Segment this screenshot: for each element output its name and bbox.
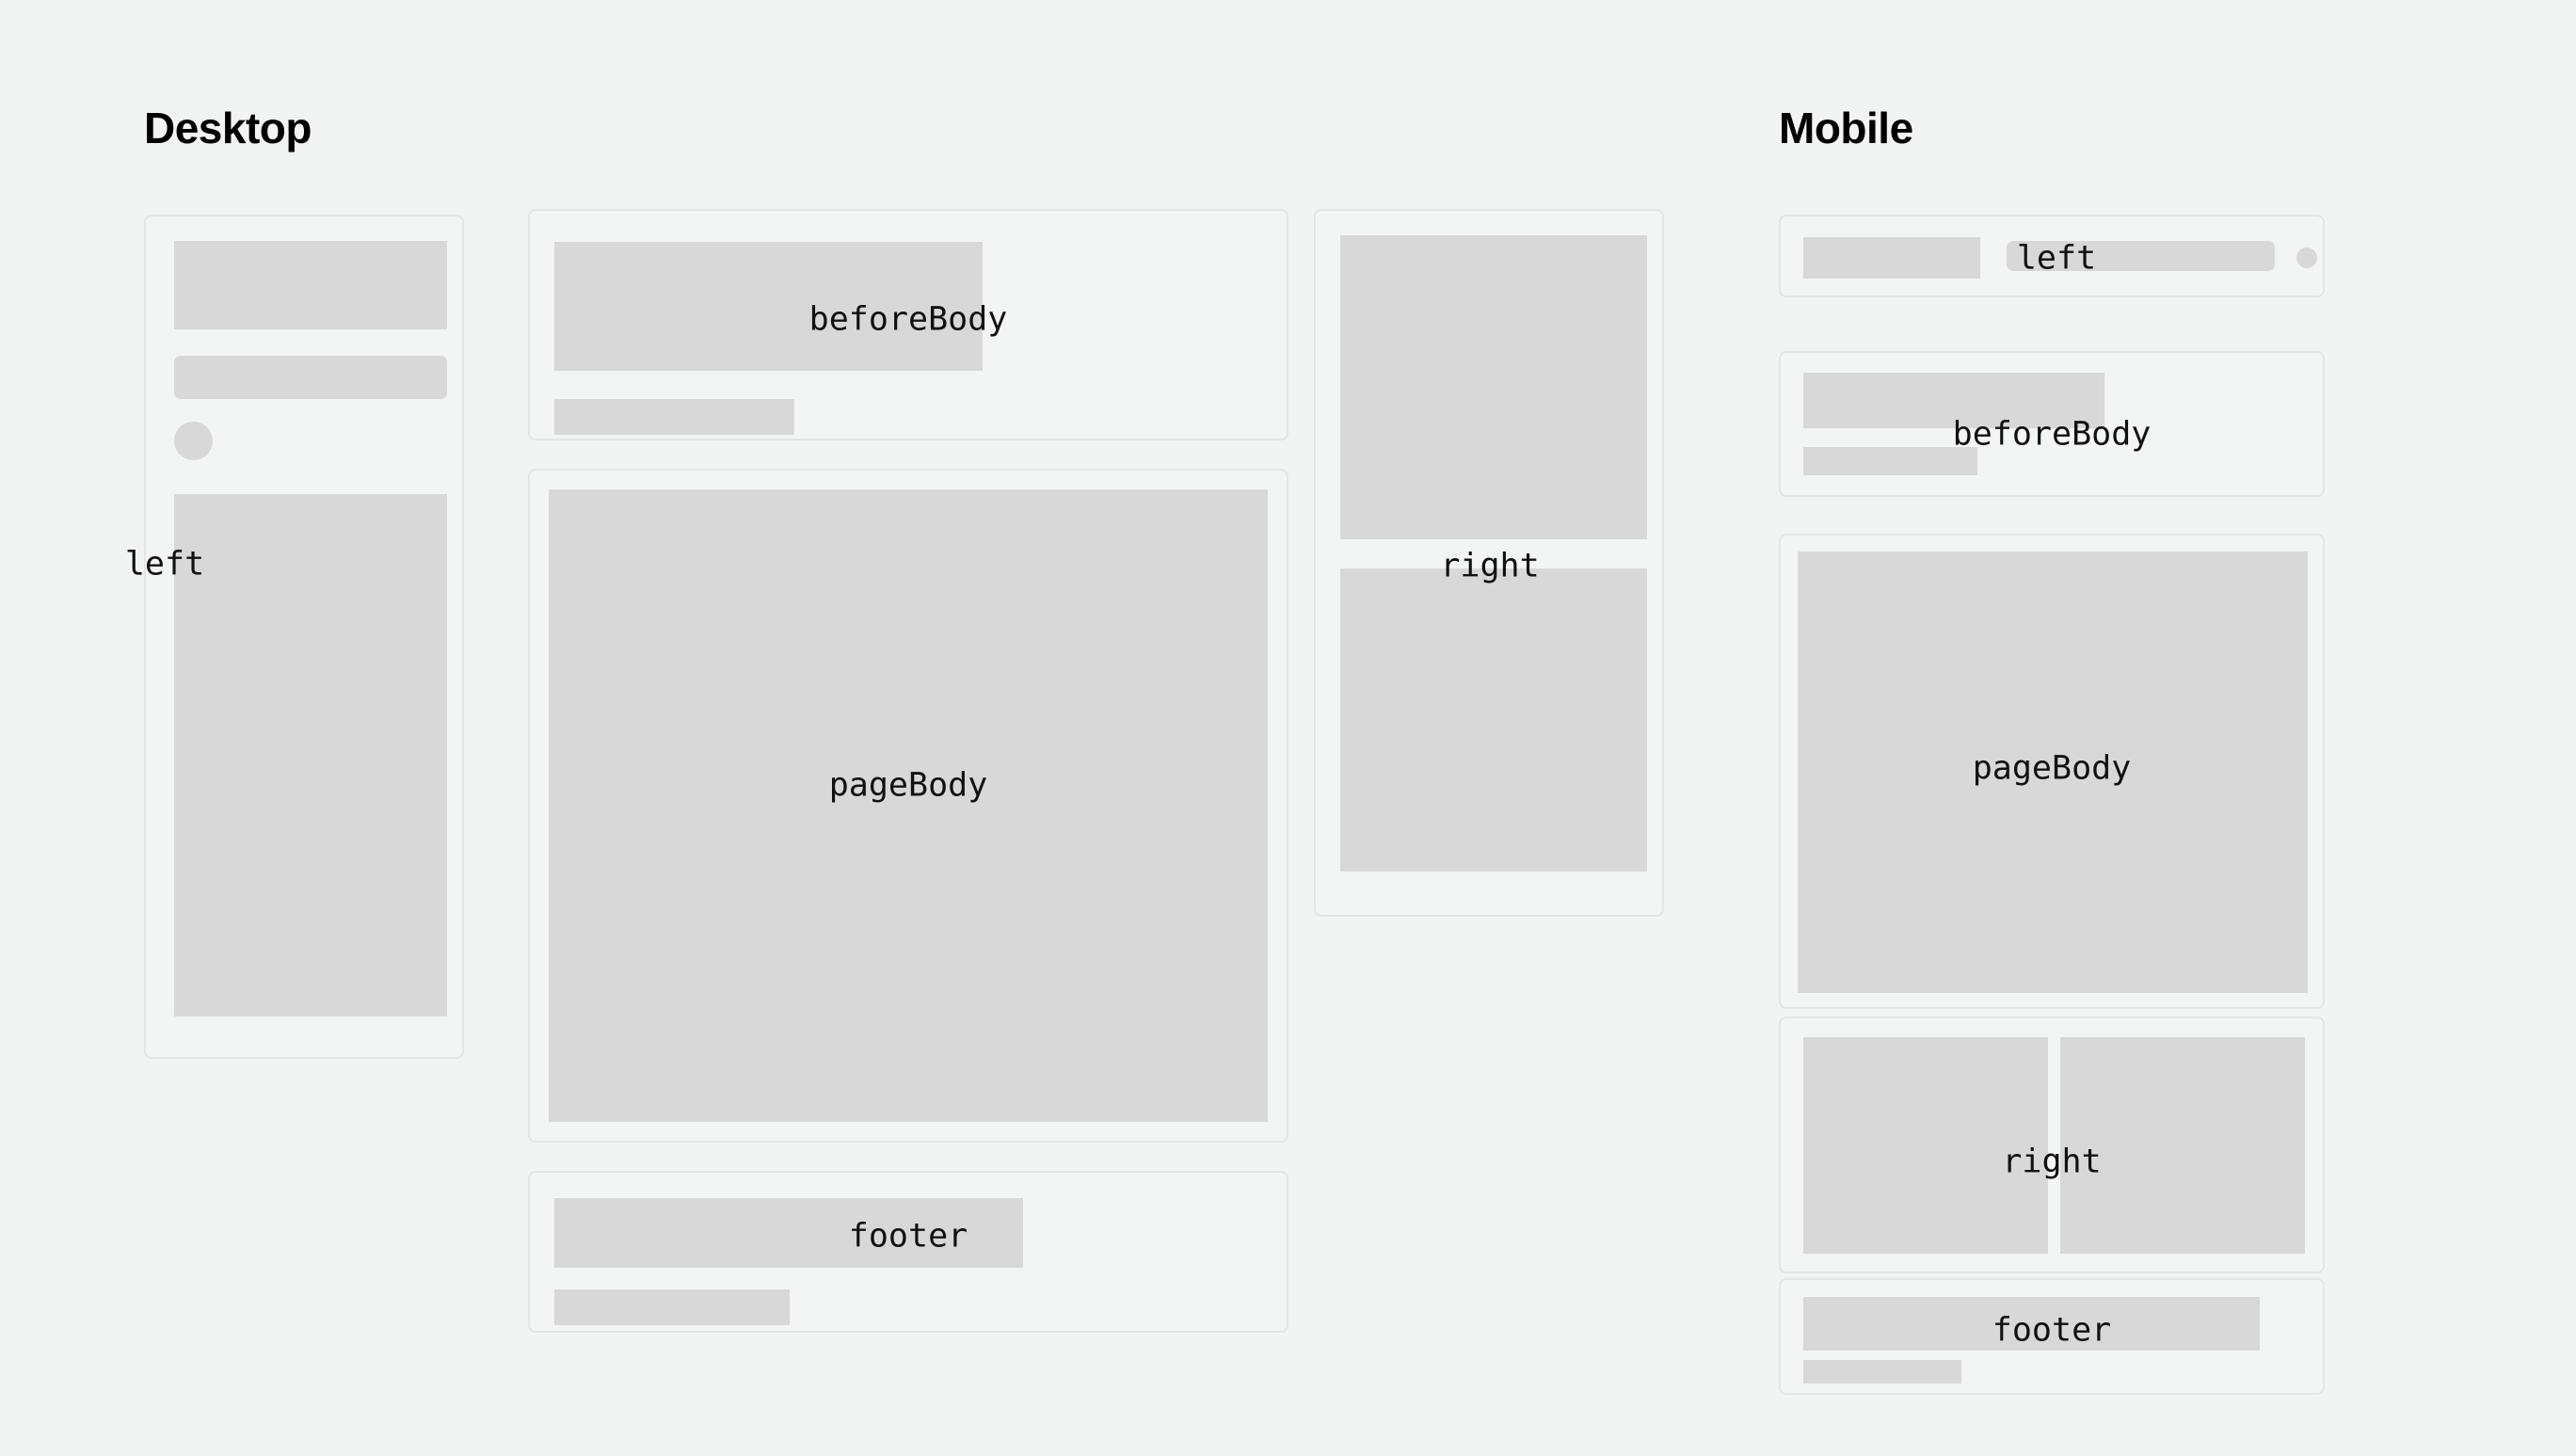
region-label-mobile-pagebody: pageBody bbox=[1973, 753, 2132, 786]
region-label-desktop-pagebody: pageBody bbox=[829, 770, 988, 803]
region-label-desktop-left: left bbox=[125, 549, 204, 582]
region-label-mobile-beforebody: beforeBody bbox=[1953, 419, 2152, 452]
skeleton-block bbox=[1340, 235, 1647, 539]
page-title-mobile: Mobile bbox=[1779, 106, 1913, 150]
region-label-desktop-right: right bbox=[1440, 551, 1539, 584]
desktop-pagebody-region-panel[interactable] bbox=[528, 469, 1288, 1143]
skeleton-bar bbox=[174, 356, 447, 399]
skeleton-bar bbox=[554, 399, 794, 435]
region-label-mobile-left: left bbox=[2017, 243, 2096, 276]
skeleton-bar bbox=[554, 1289, 790, 1325]
skeleton-block bbox=[174, 241, 447, 329]
region-label-desktop-beforebody: beforeBody bbox=[809, 304, 1008, 337]
skeleton-avatar-circle bbox=[174, 422, 213, 460]
skeleton-bar bbox=[1803, 1360, 1961, 1384]
desktop-left-region-panel[interactable] bbox=[144, 215, 464, 1059]
region-label-mobile-footer: footer bbox=[1992, 1315, 2111, 1348]
skeleton-block-large bbox=[174, 494, 447, 1016]
skeleton-block bbox=[1340, 568, 1647, 872]
skeleton-block-large bbox=[549, 489, 1268, 1122]
region-label-desktop-footer: footer bbox=[849, 1221, 968, 1254]
page-title-desktop: Desktop bbox=[144, 106, 312, 150]
skeleton-bar bbox=[1803, 447, 1977, 475]
skeleton-block bbox=[1803, 237, 1980, 279]
region-label-mobile-right: right bbox=[2002, 1146, 2101, 1179]
skeleton-avatar-circle bbox=[2296, 248, 2317, 268]
